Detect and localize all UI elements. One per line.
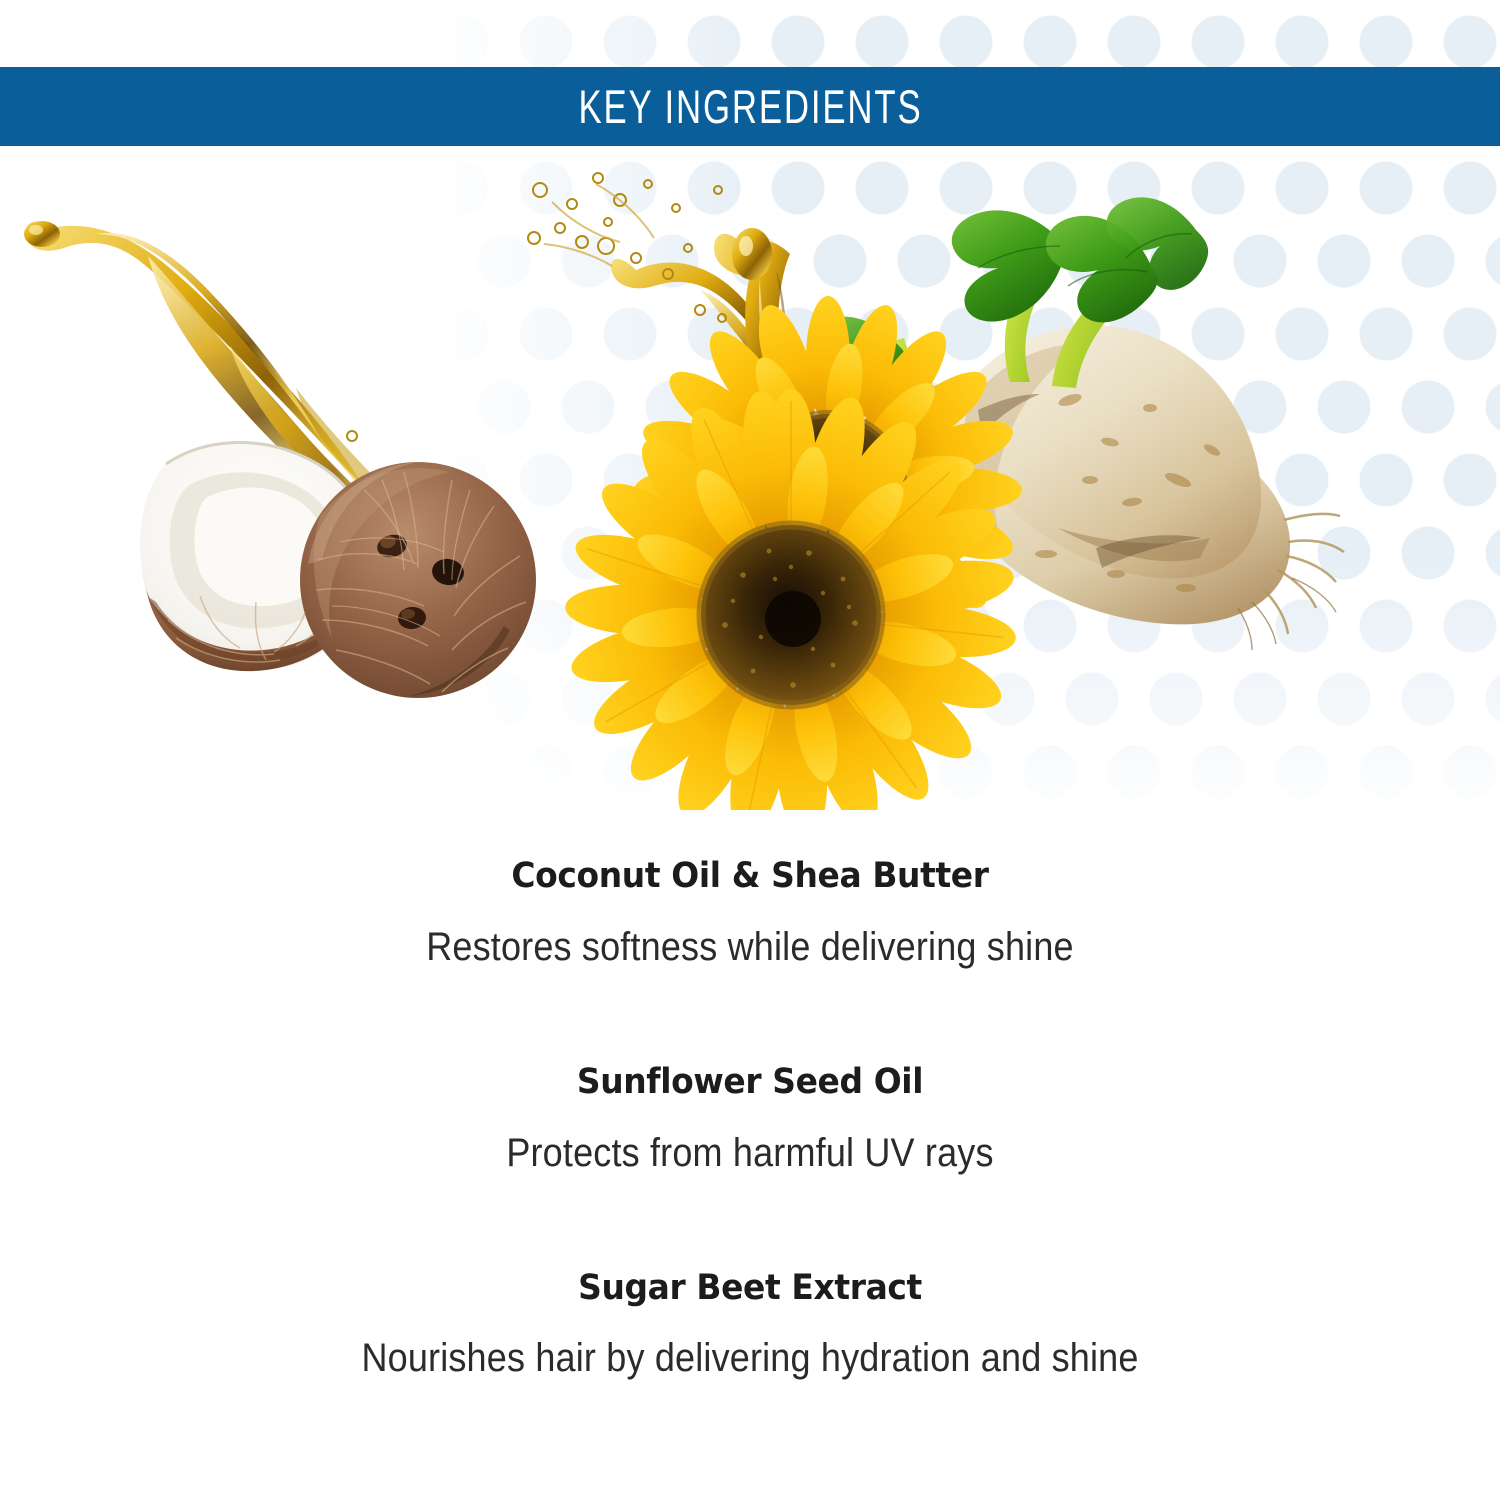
- ingredient-description: Protects from harmful UV rays: [75, 1127, 1425, 1179]
- ingredient-item: Sunflower Seed Oil Protects from harmful…: [0, 1061, 1500, 1179]
- ingredient-name: Sunflower Seed Oil: [45, 1061, 1455, 1105]
- ingredient-description: Restores softness while delivering shine: [75, 921, 1425, 973]
- ingredients-list: Coconut Oil & Shea Butter Restores softn…: [0, 855, 1500, 1384]
- ingredient-name: Coconut Oil & Shea Butter: [45, 855, 1455, 899]
- ingredient-item: Sugar Beet Extract Nourishes hair by del…: [0, 1267, 1500, 1385]
- coconut-graphic: [140, 443, 536, 698]
- ingredient-name: Sugar Beet Extract: [45, 1267, 1455, 1311]
- key-ingredients-banner: KEY INGREDIENTS: [0, 67, 1500, 146]
- ingredient-item: Coconut Oil & Shea Butter Restores softn…: [0, 855, 1500, 973]
- key-ingredients-page: KEY INGREDIENTS: [0, 0, 1500, 1500]
- banner-title: KEY INGREDIENTS: [578, 83, 922, 130]
- ingredient-description: Nourishes hair by delivering hydration a…: [75, 1332, 1425, 1384]
- ingredients-hero-image: [0, 150, 1500, 810]
